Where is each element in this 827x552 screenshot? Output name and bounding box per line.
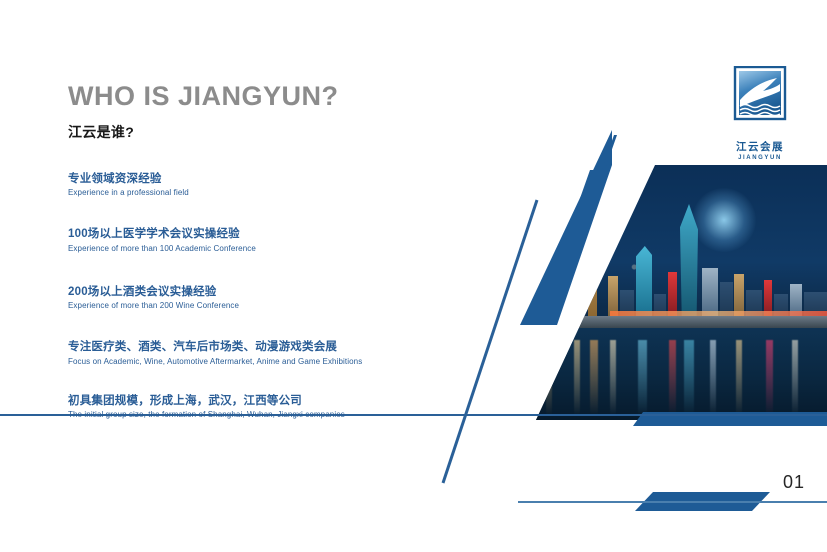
list-item-label-en: The initial group size, the formation of…: [68, 410, 468, 419]
tower-glow-pearl: [574, 208, 610, 244]
tree-cluster: [518, 292, 546, 322]
logo: 江云会展 JIANGYUN: [727, 66, 793, 161]
list-item-label-en: Experience in a professional field: [68, 188, 468, 197]
water-reflection: [546, 340, 552, 416]
river-promenade: [470, 316, 827, 328]
list-item: 专业领域资深经验 Experience in a professional fi…: [68, 172, 468, 197]
building-shanghai-world-financial-center: [636, 246, 652, 320]
oriental-pearl-sphere-large: [579, 253, 606, 280]
river-water: [470, 328, 827, 420]
building: [554, 280, 569, 320]
photo-image: [470, 165, 827, 420]
list-item-label-en: Focus on Academic, Wine, Automotive Afte…: [68, 357, 468, 366]
oriental-pearl-tower: [588, 212, 597, 320]
crane-mast: [526, 218, 528, 270]
building: [500, 290, 509, 320]
diagonal-hairline-top: [601, 135, 617, 172]
tree-cluster: [490, 284, 524, 322]
building: [570, 286, 578, 320]
page-title-cn: 江云是谁?: [68, 122, 488, 142]
list-item: 100场以上医学学术会议实操经验 Experience of more than…: [68, 227, 468, 252]
water-reflection: [669, 340, 676, 416]
boat: [498, 338, 524, 350]
crane-jib: [514, 217, 560, 226]
slide-canvas: WHO IS JIANGYUN? 江云是谁? 专业领域资深经验 Experien…: [0, 0, 827, 552]
tree-cluster: [540, 300, 562, 322]
tower-glow-shanghai: [692, 188, 756, 252]
water-reflection: [590, 340, 598, 416]
logo-text-en: JIANGYUN: [727, 155, 793, 161]
city-skyline-photo: [470, 165, 827, 420]
page-number: 01: [783, 472, 805, 493]
water-reflection: [736, 340, 742, 416]
list-item-label-cn: 200场以上酒类会议实操经验: [68, 285, 468, 299]
water-reflection: [766, 340, 773, 416]
water-reflection: [710, 340, 716, 416]
building: [528, 274, 541, 320]
oriental-pearl-spire: [592, 172, 594, 212]
water-reflection: [610, 340, 616, 416]
list-item-label-cn: 初具集团规模，形成上海，武汉，江西等公司: [68, 394, 468, 408]
logo-mark-icon: [727, 66, 793, 148]
list-item-label-en: Experience of more than 200 Wine Confere…: [68, 301, 468, 310]
wedge-spacer: [524, 168, 600, 325]
building: [487, 294, 499, 320]
boat: [532, 338, 558, 350]
list-item-label-cn: 专业领域资深经验: [68, 172, 468, 186]
water-reflection: [638, 340, 647, 416]
list-item: 初具集团规模，形成上海，武汉，江西等公司 The initial group s…: [68, 394, 468, 419]
list-item-label-cn: 专注医疗类、酒类、汽车后市场类、动漫游戏类会展: [68, 340, 468, 354]
boat-hull: [496, 349, 526, 356]
building: [470, 286, 486, 320]
list-item-label-en: Experience of more than 100 Academic Con…: [68, 244, 468, 253]
list-item-label-cn: 100场以上医学学术会议实操经验: [68, 227, 468, 241]
water-reflection: [792, 340, 798, 416]
highlights-list: 专业领域资深经验 Experience in a professional fi…: [68, 172, 468, 419]
boat-hull: [530, 349, 560, 356]
building: [511, 298, 525, 320]
building: [542, 262, 553, 320]
list-item: 专注医疗类、酒类、汽车后市场类、动漫游戏类会展 Focus on Academi…: [68, 340, 468, 365]
list-item: 200场以上酒类会议实操经验 Experience of more than 2…: [68, 285, 468, 310]
page-title-en: WHO IS JIANGYUN?: [68, 82, 488, 112]
oriental-pearl-sphere-small: [587, 222, 599, 234]
footer-divider-line: [518, 501, 827, 503]
logo-text-cn: 江云会展: [727, 139, 793, 154]
water-reflection: [684, 340, 694, 416]
slide-heading: WHO IS JIANGYUN? 江云是谁?: [68, 82, 488, 142]
water-reflection: [574, 340, 580, 416]
